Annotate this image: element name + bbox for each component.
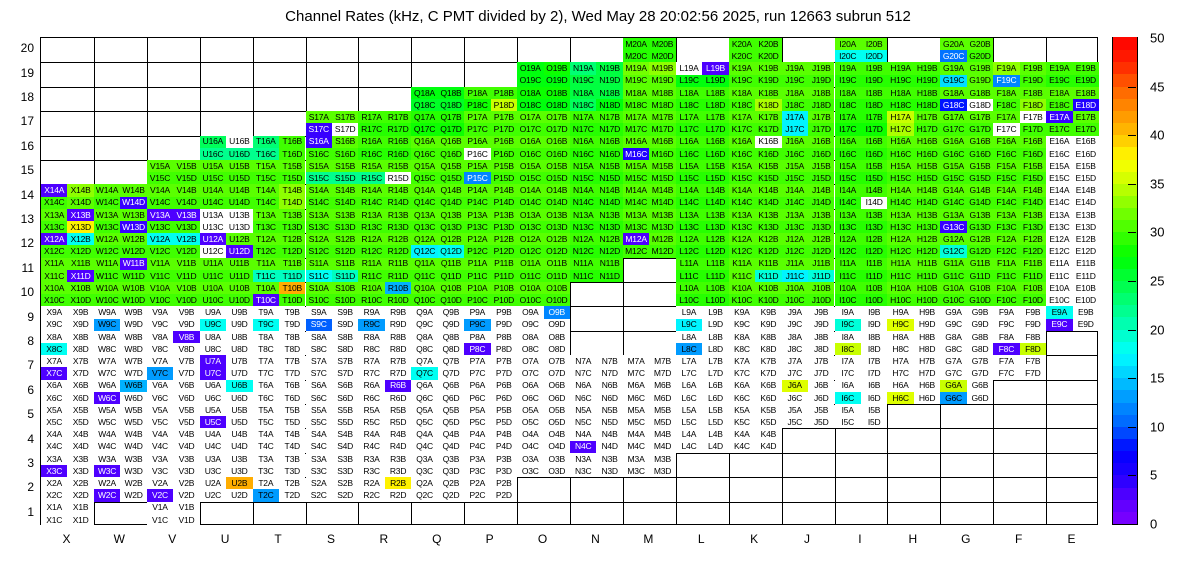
heatmap-cell-g10b: G10B: [967, 282, 993, 294]
heatmap-cell-q6a: Q6A: [411, 380, 437, 392]
heatmap-cell-o9b: O9B: [544, 306, 570, 318]
heatmap-cell-l13d: L13D: [702, 221, 728, 233]
heatmap-cell-h7d: H7D: [914, 367, 940, 379]
heatmap-cell-w2b: W2B: [120, 477, 146, 489]
heatmap-cell-e9c: E9C: [1046, 319, 1072, 331]
heatmap-cell-l8c: L8C: [676, 343, 702, 355]
heatmap-cell-l18c: L18C: [676, 99, 702, 111]
heatmap-cell-q13a: Q13A: [411, 209, 437, 221]
heatmap-cell-p14a: P14A: [464, 184, 490, 196]
heatmap-cell-w14a: W14A: [94, 184, 120, 196]
heatmap-cell-x14c: X14C: [41, 197, 67, 209]
x-axis-tick-label: T: [252, 532, 305, 546]
heatmap-cell-r6d: R6D: [385, 392, 411, 404]
heatmap-cell-q18d: Q18D: [438, 99, 464, 111]
heatmap-cell-j9a: J9A: [782, 306, 808, 318]
heatmap-cell-m7a: M7A: [623, 355, 649, 367]
heatmap-cell-q9a: Q9A: [411, 306, 437, 318]
heatmap-cell-h11a: H11A: [887, 258, 913, 270]
heatmap-cell-f8d: F8D: [1020, 343, 1046, 355]
heatmap-cell-q12d: Q12D: [438, 245, 464, 257]
heatmap-cell-p3b: P3B: [491, 453, 517, 465]
heatmap-cell-p5c: P5C: [464, 416, 490, 428]
heatmap-cell-i19d: I19D: [861, 75, 887, 87]
heatmap-cell-q14b: Q14B: [438, 184, 464, 196]
heatmap-cell-n18d: N18D: [596, 99, 622, 111]
heatmap-cell-o12c: O12C: [517, 245, 543, 257]
heatmap-cell-v8c: V8C: [147, 343, 173, 355]
heatmap-cell-t5c: T5C: [253, 416, 279, 428]
heatmap-cell-f12c: F12C: [993, 245, 1019, 257]
heatmap-cell-m7c: M7C: [623, 367, 649, 379]
heatmap-cell-n5b: N5B: [596, 404, 622, 416]
heatmap-cell-w5b: W5B: [120, 404, 146, 416]
heatmap-cell-o13d: O13D: [544, 221, 570, 233]
heatmap-cell-m17a: M17A: [623, 111, 649, 123]
colorbar-segment: [1113, 341, 1137, 354]
heatmap-cell-t8a: T8A: [253, 331, 279, 343]
heatmap-cell-x7a: X7A: [41, 355, 67, 367]
heatmap-cell-k6b: K6B: [755, 380, 781, 392]
heatmap-cell-h14c: H14C: [887, 197, 913, 209]
heatmap-cell-x8c: X8C: [41, 343, 67, 355]
heatmap-cell-r7d: R7D: [385, 367, 411, 379]
heatmap-cell-k9b: K9B: [755, 306, 781, 318]
heatmap-cell-u12c: U12C: [200, 245, 226, 257]
heatmap-cell-o8a: O8A: [517, 331, 543, 343]
heatmap-cell-w11b: W11B: [120, 258, 146, 270]
heatmap-cell-u13c: U13C: [200, 221, 226, 233]
heatmap-cell-o7d: O7D: [544, 367, 570, 379]
heatmap-cell-u15d: U15D: [226, 172, 252, 184]
heatmap-cell-g8d: G8D: [967, 343, 993, 355]
heatmap-cell-x5d: X5D: [67, 416, 93, 428]
heatmap-cell-o9a: O9A: [517, 306, 543, 318]
heatmap-cell-u11d: U11D: [226, 270, 252, 282]
heatmap-cell-m6a: M6A: [623, 380, 649, 392]
heatmap-cell-q16d: Q16D: [438, 148, 464, 160]
heatmap-cell-l4c: L4C: [676, 441, 702, 453]
heatmap-cell-r8a: R8A: [358, 331, 384, 343]
heatmap-cell-w9c: W9C: [94, 319, 120, 331]
heatmap-cell-f12d: F12D: [1020, 245, 1046, 257]
heatmap-cell-o19c: O19C: [517, 75, 543, 87]
heatmap-cell-i8d: I8D: [861, 343, 887, 355]
heatmap-cell-h16a: H16A: [887, 136, 913, 148]
y-axis-tick-label: 17: [4, 114, 34, 128]
heatmap-cell-j11c: J11C: [782, 270, 808, 282]
heatmap-cell-m7d: M7D: [649, 367, 675, 379]
heatmap-cell-q17c: Q17C: [411, 123, 437, 135]
heatmap-cell-g8a: G8A: [940, 331, 966, 343]
heatmap-cell-h17c: H17C: [887, 123, 913, 135]
heatmap-cell-f19b: F19B: [1020, 62, 1046, 74]
heatmap-cell-m20a: M20A: [623, 38, 649, 50]
heatmap-cell-q8c: Q8C: [411, 343, 437, 355]
heatmap-cell-r4a: R4A: [358, 428, 384, 440]
heatmap-cell-v12a: V12A: [147, 233, 173, 245]
heatmap-cell-x13c: X13C: [41, 221, 67, 233]
heatmap-cell-s6c: S6C: [306, 392, 332, 404]
heatmap-cell-x2c: X2C: [41, 489, 67, 501]
heatmap-cell-v7d: V7D: [173, 367, 199, 379]
heatmap-cell-j7a: J7A: [782, 355, 808, 367]
heatmap-cell-k17c: K17C: [729, 123, 755, 135]
heatmap-cell-m13c: M13C: [623, 221, 649, 233]
heatmap-cell-h17a: H17A: [887, 111, 913, 123]
heatmap-cell-l10b: L10B: [702, 282, 728, 294]
heatmap-cell-f14b: F14B: [1020, 184, 1046, 196]
heatmap-cell-k12a: K12A: [729, 233, 755, 245]
heatmap-cell-q4c: Q4C: [411, 441, 437, 453]
heatmap-cell-u4b: U4B: [226, 428, 252, 440]
heatmap-cell-v1c: V1C: [147, 514, 173, 526]
heatmap-cell-s12b: S12B: [332, 233, 358, 245]
heatmap-cell-h14b: H14B: [914, 184, 940, 196]
heatmap-cell-s4c: S4C: [306, 441, 332, 453]
heatmap-cell-x6d: X6D: [67, 392, 93, 404]
heatmap-cell-h13a: H13A: [887, 209, 913, 221]
heatmap-cell-k5d: K5D: [755, 416, 781, 428]
heatmap-cell-p6d: P6D: [491, 392, 517, 404]
heatmap-cell-n17a: N17A: [570, 111, 596, 123]
heatmap-cell-o14c: O14C: [517, 197, 543, 209]
heatmap-cell-n6b: N6B: [596, 380, 622, 392]
heatmap-cell-x11c: X11C: [41, 270, 67, 282]
heatmap-cell-p2c: P2C: [464, 489, 490, 501]
heatmap-cell-x8a: X8A: [41, 331, 67, 343]
heatmap-cell-m6d: M6D: [649, 392, 675, 404]
y-axis-tick-label: 2: [4, 480, 34, 494]
heatmap-cell-k5a: K5A: [729, 404, 755, 416]
heatmap-cell-s15a: S15A: [306, 160, 332, 172]
heatmap-cell-p13a: P13A: [464, 209, 490, 221]
heatmap-cell-v14a: V14A: [147, 184, 173, 196]
colorbar-segment: [1113, 353, 1137, 366]
heatmap-cell-p5b: P5B: [491, 404, 517, 416]
heatmap-cell-n6d: N6D: [596, 392, 622, 404]
heatmap-cell-v13c: V13C: [147, 221, 173, 233]
heatmap-cell-h15c: H15C: [887, 172, 913, 184]
heatmap-cell-g14c: G14C: [940, 197, 966, 209]
heatmap-cell-n14b: N14B: [596, 184, 622, 196]
heatmap-cell-q12a: Q12A: [411, 233, 437, 245]
heatmap-cell-s16a: S16A: [306, 136, 332, 148]
heatmap-cell-o10c: O10C: [517, 294, 543, 306]
heatmap-cell-v15b: V15B: [173, 160, 199, 172]
heatmap-cell-t16a: T16A: [253, 136, 279, 148]
heatmap-cell-l9a: L9A: [676, 306, 702, 318]
heatmap-cell-q15b: Q15B: [438, 160, 464, 172]
heatmap-cell-j10a: J10A: [782, 282, 808, 294]
heatmap-cell-j14a: J14A: [782, 184, 808, 196]
heatmap-cell-t10b: T10B: [279, 282, 305, 294]
heatmap-cell-m4a: M4A: [623, 428, 649, 440]
heatmap-cell-p12c: P12C: [464, 245, 490, 257]
heatmap-cell-i5c: I5C: [835, 416, 861, 428]
heatmap-cell-v2a: V2A: [147, 477, 173, 489]
heatmap-cell-m12c: M12C: [623, 245, 649, 257]
heatmap-cell-k16a: K16A: [729, 136, 755, 148]
heatmap-cell-j8d: J8D: [808, 343, 834, 355]
heatmap-cell-o14d: O14D: [544, 197, 570, 209]
heatmap-cell-m3a: M3A: [623, 453, 649, 465]
heatmap-cell-p8a: P8A: [464, 331, 490, 343]
heatmap-cell-k14a: K14A: [729, 184, 755, 196]
heatmap-cell-m12b: M12B: [649, 233, 675, 245]
heatmap-cell-f18c: F18C: [993, 99, 1019, 111]
heatmap-cell-v7a: V7A: [147, 355, 173, 367]
heatmap-cell-s16c: S16C: [306, 148, 332, 160]
heatmap-cell-i11c: I11C: [835, 270, 861, 282]
heatmap-cell-s13c: S13C: [306, 221, 332, 233]
heatmap-cell-o14a: O14A: [517, 184, 543, 196]
heatmap-cell-n18a: N18A: [570, 87, 596, 99]
heatmap-cell-n13c: N13C: [570, 221, 596, 233]
heatmap-cell-t15d: T15D: [279, 172, 305, 184]
heatmap-cell-x7c: X7C: [41, 367, 67, 379]
heatmap-cell-j6c: J6C: [782, 392, 808, 404]
heatmap-cell-m17c: M17C: [623, 123, 649, 135]
heatmap-cell-j16b: J16B: [808, 136, 834, 148]
heatmap-cell-p3a: P3A: [464, 453, 490, 465]
heatmap-cell-w11c: W11C: [94, 270, 120, 282]
heatmap-cell-l9d: L9D: [702, 319, 728, 331]
heatmap-cell-h14a: H14A: [887, 184, 913, 196]
heatmap-cell-o13a: O13A: [517, 209, 543, 221]
heatmap-cell-v1b: V1B: [173, 502, 199, 514]
heatmap-cell-e16c: E16C: [1046, 148, 1072, 160]
heatmap-cell-q2d: Q2D: [438, 489, 464, 501]
heatmap-cell-l7b: L7B: [702, 355, 728, 367]
heatmap-cell-g15a: G15A: [940, 160, 966, 172]
heatmap-cell-m13a: M13A: [623, 209, 649, 221]
heatmap-cell-p7b: P7B: [491, 355, 517, 367]
heatmap-cell-l11b: L11B: [702, 258, 728, 270]
heatmap-cell-h12c: H12C: [887, 245, 913, 257]
heatmap-cell-u10c: U10C: [200, 294, 226, 306]
heatmap-cell-t14d: T14D: [279, 197, 305, 209]
heatmap-cell-j15c: J15C: [782, 172, 808, 184]
heatmap-cell-p10a: P10A: [464, 282, 490, 294]
heatmap-cell-g15c: G15C: [940, 172, 966, 184]
heatmap-cell-e11c: E11C: [1046, 270, 1072, 282]
heatmap-cell-k14b: K14B: [755, 184, 781, 196]
heatmap-cell-k10c: K10C: [729, 294, 755, 306]
heatmap-cell-t15c: T15C: [253, 172, 279, 184]
heatmap-cell-i5d: I5D: [861, 416, 887, 428]
heatmap-cell-e17c: E17C: [1046, 123, 1072, 135]
heatmap-cell-w7c: W7C: [94, 367, 120, 379]
heatmap-cell-f17b: F17B: [1020, 111, 1046, 123]
heatmap-cell-u4a: U4A: [200, 428, 226, 440]
heatmap-cell-o6d: O6D: [544, 392, 570, 404]
colorbar-segment: [1113, 208, 1137, 221]
heatmap-cell-v11a: V11A: [147, 258, 173, 270]
heatmap-cell-s13d: S13D: [332, 221, 358, 233]
heatmap-cell-v14c: V14C: [147, 197, 173, 209]
heatmap-cell-q2a: Q2A: [411, 477, 437, 489]
heatmap-cell-e17d: E17D: [1073, 123, 1099, 135]
heatmap-cell-q4d: Q4D: [438, 441, 464, 453]
heatmap-cell-u2b: U2B: [226, 477, 252, 489]
heatmap-cell-t11a: T11A: [253, 258, 279, 270]
heatmap-cell-h10b: H10B: [914, 282, 940, 294]
heatmap-cell-w6d: W6D: [120, 392, 146, 404]
heatmap-cell-n7b: N7B: [596, 355, 622, 367]
heatmap-cell-g18b: G18B: [967, 87, 993, 99]
heatmap-cell-u3c: U3C: [200, 465, 226, 477]
heatmap-cell-r11b: R11B: [385, 258, 411, 270]
colorbar-segment: [1113, 268, 1137, 281]
heatmap-cell-l15d: L15D: [702, 172, 728, 184]
heatmap-cell-m19c: M19C: [623, 75, 649, 87]
heatmap-cell-k17d: K17D: [755, 123, 781, 135]
heatmap-cell-w6c: W6C: [94, 392, 120, 404]
heatmap-cell-m14d: M14D: [649, 197, 675, 209]
heatmap-cell-x9d: X9D: [67, 319, 93, 331]
heatmap-cell-s10b: S10B: [332, 282, 358, 294]
heatmap-cell-q14d: Q14D: [438, 197, 464, 209]
heatmap-cell-t7c: T7C: [253, 367, 279, 379]
heatmap-cell-t11d: T11D: [279, 270, 305, 282]
heatmap-cell-r12a: R12A: [358, 233, 384, 245]
heatmap-cell-g20b: G20B: [967, 38, 993, 50]
heatmap-cell-w11d: W11D: [120, 270, 146, 282]
heatmap-cell-j12d: J12D: [808, 245, 834, 257]
heatmap-cell-q7c: Q7C: [411, 367, 437, 379]
heatmap-cell-l6b: L6B: [702, 380, 728, 392]
colorbar-segment: [1113, 244, 1137, 257]
heatmap-cell-k18b: K18B: [755, 87, 781, 99]
heatmap-cell-n12a: N12A: [570, 233, 596, 245]
heatmap-cell-o5c: O5C: [517, 416, 543, 428]
heatmap-cell-j5d: J5D: [808, 416, 834, 428]
heatmap-cell-v15c: V15C: [147, 172, 173, 184]
heatmap-cell-q10b: Q10B: [438, 282, 464, 294]
heatmap-cell-t12a: T12A: [253, 233, 279, 245]
colorbar-tick-mark: [1128, 378, 1136, 379]
heatmap-cell-n13d: N13D: [596, 221, 622, 233]
heatmap-cell-e14d: E14D: [1073, 197, 1099, 209]
heatmap-cell-g19c: G19C: [940, 75, 966, 87]
heatmap-cell-s8c: S8C: [306, 343, 332, 355]
heatmap-cell-n15c: N15C: [570, 172, 596, 184]
heatmap-cell-u14a: U14A: [200, 184, 226, 196]
heatmap-cell-t14b: T14B: [279, 184, 305, 196]
colorbar-segment: [1113, 37, 1137, 50]
heatmap-cell-l15b: L15B: [702, 160, 728, 172]
heatmap-cell-v15d: V15D: [173, 172, 199, 184]
heatmap-cell-n7d: N7D: [596, 367, 622, 379]
heatmap-cell-r5c: R5C: [358, 416, 384, 428]
heatmap-cell-k14c: K14C: [729, 197, 755, 209]
heatmap-cell-e10b: E10B: [1073, 282, 1099, 294]
heatmap-cell-r17b: R17B: [385, 111, 411, 123]
heatmap-cell-s7d: S7D: [332, 367, 358, 379]
heatmap-cell-g8b: G8B: [967, 331, 993, 343]
heatmap-cell-u5a: U5A: [200, 404, 226, 416]
heatmap-cell-p8c: P8C: [464, 343, 490, 355]
heatmap-cell-n13b: N13B: [596, 209, 622, 221]
heatmap-cell-i17a: I17A: [835, 111, 861, 123]
heatmap-cell-v2c: V2C: [147, 489, 173, 501]
heatmap-cell-x8b: X8B: [67, 331, 93, 343]
heatmap-cell-g17c: G17C: [940, 123, 966, 135]
heatmap-cell-u14b: U14B: [226, 184, 252, 196]
heatmap-cell-e12b: E12B: [1073, 233, 1099, 245]
heatmap-cell-l5a: L5A: [676, 404, 702, 416]
heatmap-cell-f14c: F14C: [993, 197, 1019, 209]
heatmap-cell-t3d: T3D: [279, 465, 305, 477]
heatmap-cell-v8a: V8A: [147, 331, 173, 343]
heatmap-cell-g14b: G14B: [967, 184, 993, 196]
heatmap-cell-k11d: K11D: [755, 270, 781, 282]
heatmap-cell-r11a: R11A: [358, 258, 384, 270]
heatmap-cell-j11b: J11B: [808, 258, 834, 270]
heatmap-cell-v7c: V7C: [147, 367, 173, 379]
heatmap-cell-w4d: W4D: [120, 441, 146, 453]
heatmap-cell-g6b: G6B: [967, 380, 993, 392]
heatmap-cell-w14b: W14B: [120, 184, 146, 196]
heatmap-cell-r9d: R9D: [385, 319, 411, 331]
heatmap-cell-r4c: R4C: [358, 441, 384, 453]
heatmap-cell-l19a: L19A: [676, 62, 702, 74]
heatmap-cell-g10c: G10C: [940, 294, 966, 306]
heatmap-cell-k7c: K7C: [729, 367, 755, 379]
heatmap-cell-u9c: U9C: [200, 319, 226, 331]
heatmap-cell-w11a: W11A: [94, 258, 120, 270]
heatmap-cell-r9b: R9B: [385, 306, 411, 318]
heatmap-cell-g15d: G15D: [967, 172, 993, 184]
heatmap-cell-r5d: R5D: [385, 416, 411, 428]
heatmap-cell-w9b: W9B: [120, 306, 146, 318]
heatmap-cell-t13c: T13C: [253, 221, 279, 233]
heatmap-cell-u6c: U6C: [200, 392, 226, 404]
heatmap-cell-l4a: L4A: [676, 428, 702, 440]
heatmap-cell-s4b: S4B: [332, 428, 358, 440]
heatmap-cell-l16d: L16D: [702, 148, 728, 160]
heatmap-cell-l19d: L19D: [702, 75, 728, 87]
heatmap-cell-q18b: Q18B: [438, 87, 464, 99]
heatmap-cell-k12b: K12B: [755, 233, 781, 245]
heatmap-cell-m12a: M12A: [623, 233, 649, 245]
heatmap-cell-r15c: R15C: [358, 172, 384, 184]
heatmap-cell-q8a: Q8A: [411, 331, 437, 343]
heatmap-cell-q18c: Q18C: [411, 99, 437, 111]
heatmap-cell-e15c: E15C: [1046, 172, 1072, 184]
heatmap-cell-m18b: M18B: [649, 87, 675, 99]
x-axis-tick-label: X: [40, 532, 93, 546]
heatmap-cell-v13d: V13D: [173, 221, 199, 233]
heatmap-cell-k19c: K19C: [729, 75, 755, 87]
heatmap-cell-q10d: Q10D: [438, 294, 464, 306]
heatmap-cell-n17c: N17C: [570, 123, 596, 135]
heatmap-cell-x3d: X3D: [67, 465, 93, 477]
heatmap-cell-g12c: G12C: [940, 245, 966, 257]
heatmap-cell-r10d: R10D: [385, 294, 411, 306]
heatmap-cell-h13d: H13D: [914, 221, 940, 233]
heatmap-cell-r16d: R16D: [385, 148, 411, 160]
heatmap-cell-n7c: N7C: [570, 367, 596, 379]
heatmap-cell-p17d: P17D: [491, 123, 517, 135]
heatmap-cell-o18b: O18B: [544, 87, 570, 99]
heatmap-cell-s13a: S13A: [306, 209, 332, 221]
heatmap-cell-t9a: T9A: [253, 306, 279, 318]
heatmap-cell-q11a: Q11A: [411, 258, 437, 270]
heatmap-cell-o12b: O12B: [544, 233, 570, 245]
heatmap-cell-r7b: R7B: [385, 355, 411, 367]
